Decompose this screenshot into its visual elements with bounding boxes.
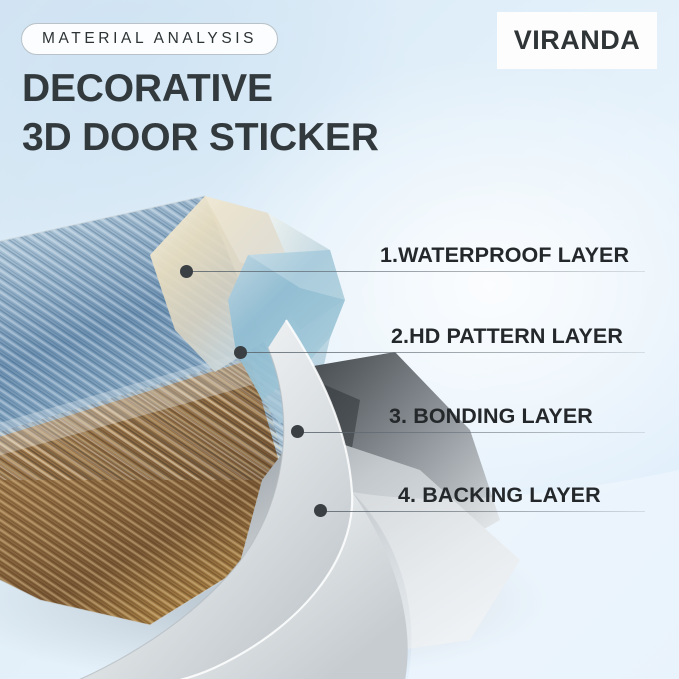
callout-label-hd-pattern-layer: 2.HD PATTERN LAYER	[391, 324, 623, 349]
callout-rule-4	[320, 511, 645, 512]
callout-dot-1	[180, 265, 193, 278]
callout-dot-3	[291, 425, 304, 438]
brand-name: VIRANDA	[514, 25, 641, 56]
callout-rule-3	[297, 432, 645, 433]
title-line-1: DECORATIVE	[22, 67, 273, 110]
title-line-2: 3D DOOR STICKER	[22, 113, 379, 162]
page-title: DECORATIVE 3D DOOR STICKER	[22, 64, 379, 162]
callout-label-backing-layer: 4. BACKING LAYER	[398, 483, 601, 508]
material-analysis-badge: MATERIAL ANALYSIS	[21, 23, 278, 55]
badge-label: MATERIAL ANALYSIS	[42, 30, 257, 48]
callout-rule-1	[186, 271, 645, 272]
poster-canvas: MATERIAL ANALYSIS DECORATIVE 3D DOOR STI…	[0, 0, 679, 679]
brand-logo-box: VIRANDA	[497, 12, 657, 69]
callout-dot-4	[314, 504, 327, 517]
callout-label-bonding-layer: 3. BONDING LAYER	[389, 404, 593, 429]
callout-dot-2	[234, 346, 247, 359]
callout-label-waterproof-layer: 1.WATERPROOF LAYER	[380, 243, 629, 268]
callout-rule-2	[240, 352, 645, 353]
